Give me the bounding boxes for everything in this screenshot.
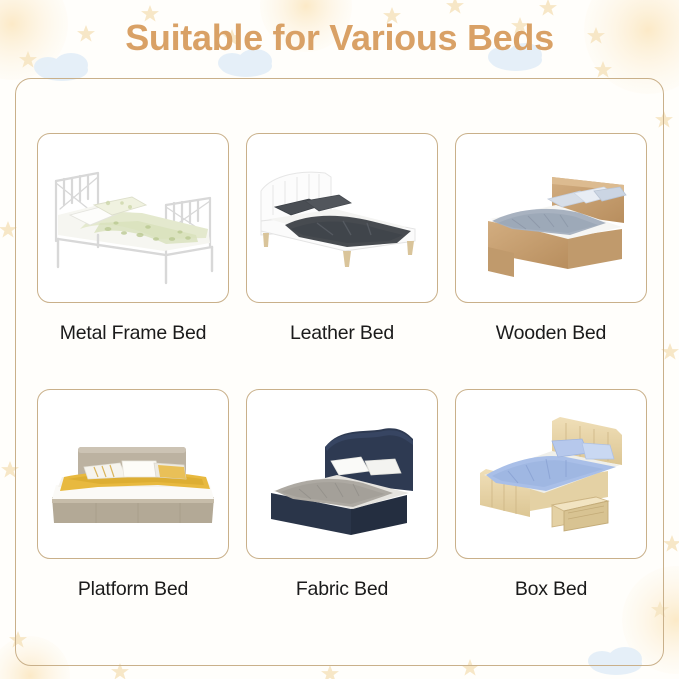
fabric-bed-photo: [247, 399, 437, 549]
bed-cell-platform-bed[interactable]: Platform Bed: [37, 389, 229, 641]
bed-card-fabric-bed[interactable]: [246, 389, 438, 559]
leather-bed-photo: [247, 143, 437, 293]
bed-label-fabric-bed: Fabric Bed: [296, 578, 388, 601]
bed-label-box-bed: Box Bed: [515, 578, 587, 601]
bed-card-metal-frame-bed[interactable]: [37, 133, 229, 303]
metal-frame-bed-photo: [38, 143, 228, 293]
page-title: Suitable for Various Beds: [0, 0, 679, 76]
bed-cell-wooden-bed[interactable]: Wooden Bed: [455, 133, 647, 385]
bed-cell-box-bed[interactable]: Box Bed: [455, 389, 647, 641]
bed-label-metal-frame-bed: Metal Frame Bed: [60, 322, 207, 345]
bed-label-platform-bed: Platform Bed: [78, 578, 188, 601]
bed-label-leather-bed: Leather Bed: [290, 322, 394, 345]
bed-card-leather-bed[interactable]: [246, 133, 438, 303]
bed-card-platform-bed[interactable]: [37, 389, 229, 559]
bed-label-wooden-bed: Wooden Bed: [496, 322, 606, 345]
bed-cell-leather-bed[interactable]: Leather Bed: [246, 133, 438, 385]
box-bed-photo: [456, 399, 646, 549]
platform-bed-photo: [38, 399, 228, 549]
bed-cell-fabric-bed[interactable]: Fabric Bed: [246, 389, 438, 641]
bed-cell-metal-frame-bed[interactable]: Metal Frame Bed: [37, 133, 229, 385]
bed-card-box-bed[interactable]: [455, 389, 647, 559]
bed-type-grid: Metal Frame Bed: [15, 78, 664, 666]
wooden-bed-photo: [456, 143, 646, 293]
bed-card-wooden-bed[interactable]: [455, 133, 647, 303]
